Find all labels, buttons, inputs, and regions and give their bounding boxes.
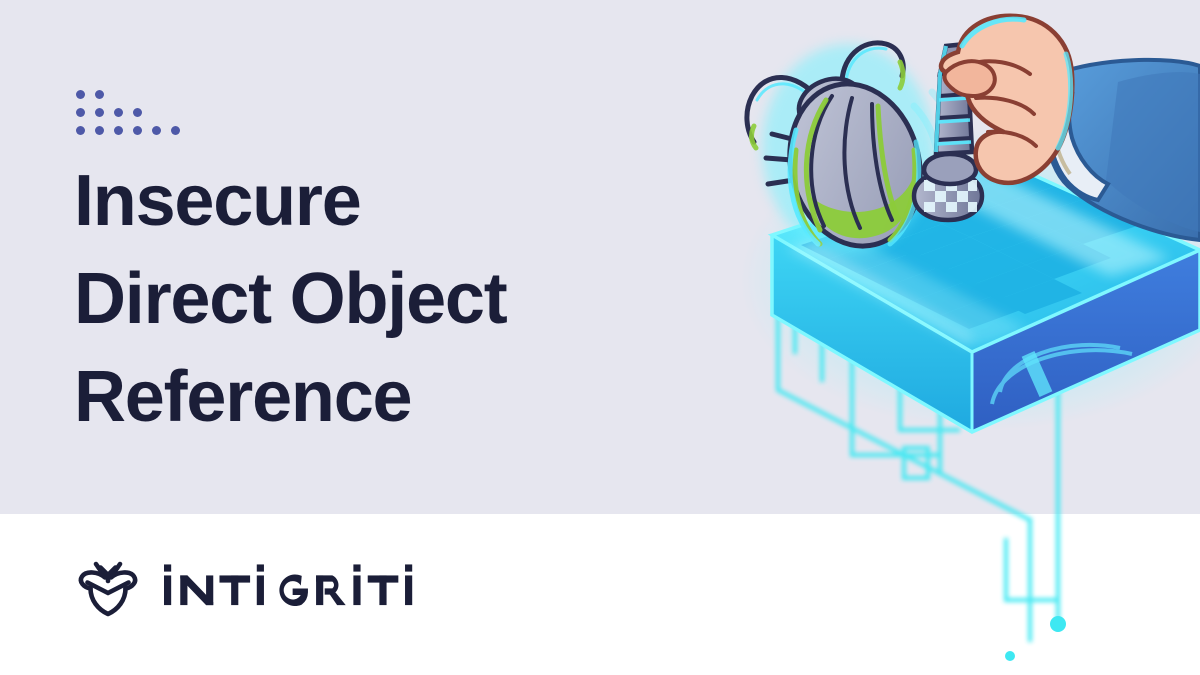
chess-board-bug-illustration [700, 0, 1200, 675]
page-title: Insecure Direct Object Reference [74, 152, 694, 446]
grid-dot [171, 126, 180, 135]
grid-dot [95, 108, 104, 117]
grid-dot [114, 108, 123, 117]
brand-logo-lockup[interactable] [74, 552, 415, 618]
grid-dot [76, 126, 85, 135]
dot-grid [76, 90, 186, 136]
grid-dot [76, 108, 85, 117]
grid-dot [95, 126, 104, 135]
grid-dot [133, 126, 142, 135]
page-title-line-2: Direct Object [74, 250, 694, 348]
poster-canvas: Insecure Direct Object Reference [0, 0, 1200, 675]
bee-icon [74, 552, 142, 618]
brand-wordmark [164, 563, 415, 607]
grid-dot [152, 126, 161, 135]
grid-dot [133, 108, 142, 117]
grid-dot [95, 90, 104, 99]
grid-dot [114, 126, 123, 135]
grid-dot [76, 90, 85, 99]
page-title-line-3: Reference [74, 348, 694, 446]
page-title-line-1: Insecure [74, 152, 694, 250]
